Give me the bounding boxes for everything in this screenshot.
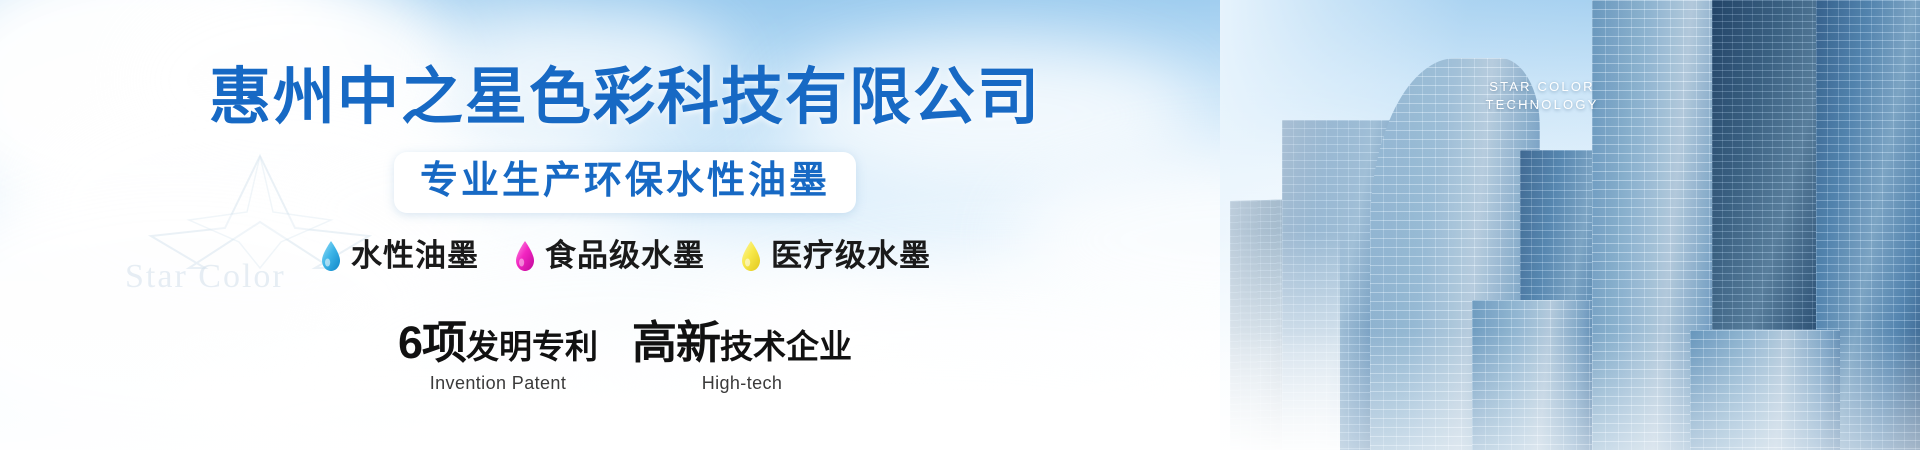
subtitle-container: 专业生产环保水性油墨 bbox=[0, 152, 1250, 213]
credential-cn: 高新技术企业 bbox=[632, 320, 852, 370]
feature-item-water-based-ink: 水性油墨 bbox=[319, 237, 479, 275]
credential-en: High-tech bbox=[632, 372, 852, 394]
credential-en: Invention Patent bbox=[398, 372, 598, 394]
brand-mark: STAR COLOR TECHNOLOGY bbox=[1462, 78, 1622, 114]
feature-label: 食品级水墨 bbox=[545, 237, 705, 275]
feature-label: 水性油墨 bbox=[351, 237, 479, 275]
credential-item-high-tech: 高新技术企业 High-tech bbox=[632, 320, 852, 394]
credential-cn-rest: 发明专利 bbox=[466, 328, 598, 365]
subtitle-pill: 专业生产环保水性油墨 bbox=[394, 152, 856, 213]
feature-list: 水性油墨 食品级水墨 bbox=[0, 237, 1250, 275]
water-drop-icon bbox=[319, 240, 343, 272]
promo-banner: STAR COLOR TECHNOLOGY Star Color 惠州中之星色彩… bbox=[0, 0, 1920, 450]
credential-cn-rest: 技术企业 bbox=[720, 328, 852, 365]
credential-cn-emphasis: 高新 bbox=[632, 317, 720, 368]
water-drop-icon bbox=[513, 240, 537, 272]
water-drop-icon bbox=[739, 240, 763, 272]
brand-mark-line1: STAR COLOR bbox=[1462, 78, 1622, 96]
feature-item-medical-grade-ink: 医疗级水墨 bbox=[739, 237, 931, 275]
credential-cn: 6项发明专利 bbox=[398, 320, 598, 370]
page-title: 惠州中之星色彩科技有限公司 bbox=[0, 62, 1250, 134]
feature-label: 医疗级水墨 bbox=[771, 237, 931, 275]
credential-list: 6项发明专利 Invention Patent 高新技术企业 High-tech bbox=[0, 320, 1250, 394]
feature-item-food-grade-ink: 食品级水墨 bbox=[513, 237, 705, 275]
banner-content: 惠州中之星色彩科技有限公司 专业生产环保水性油墨 水性油 bbox=[0, 0, 1250, 450]
credential-cn-emphasis: 6项 bbox=[398, 317, 466, 368]
credential-item-invention-patent: 6项发明专利 Invention Patent bbox=[398, 320, 598, 394]
brand-mark-line2: TECHNOLOGY bbox=[1462, 96, 1622, 114]
